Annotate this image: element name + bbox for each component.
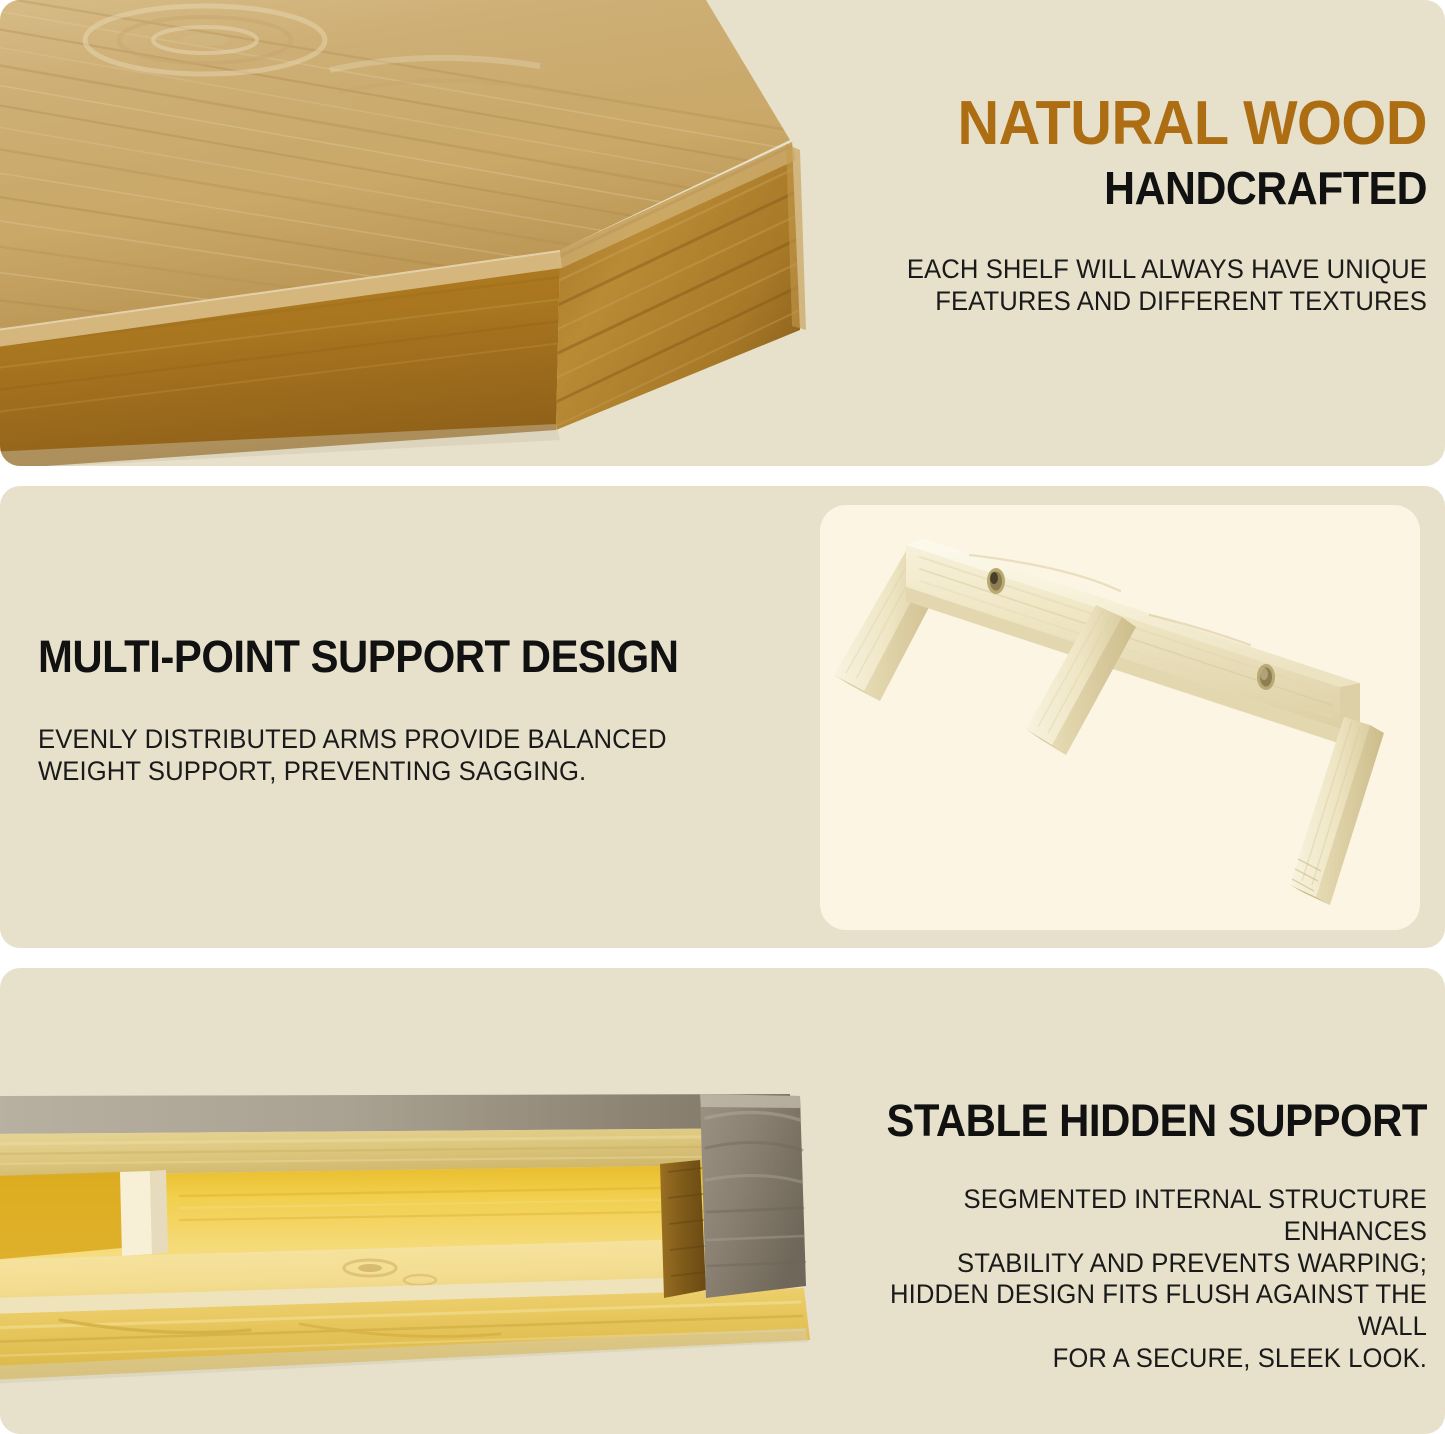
panel-natural-wood-body: EACH SHELF WILL ALWAYS HAVE UNIQUE FEATU… [848,254,1428,318]
panel-hidden-support-body: SEGMENTED INTERNAL STRUCTURE ENHANCES ST… [838,1184,1427,1375]
panel-multi-point-support: MULTI-POINT SUPPORT DESIGN EVENLY DISTRI… [0,486,1445,948]
panel-natural-wood-title-sub: HANDCRAFTED [860,165,1427,212]
panel-multi-point-text: MULTI-POINT SUPPORT DESIGN EVENLY DISTRI… [38,634,778,788]
bracket-screw-hole [1257,664,1275,690]
body-line: WEIGHT SUPPORT, PREVENTING SAGGING. [38,756,741,788]
product-infographic: NATURAL WOOD HANDCRAFTED EACH SHELF WILL… [0,0,1445,1434]
body-line: EACH SHELF WILL ALWAYS HAVE UNIQUE [848,254,1428,286]
panel-hidden-support-title: STABLE HIDDEN SUPPORT [850,1098,1427,1144]
bracket-screw-hole [987,568,1005,594]
bracket-main-rail [906,539,1360,743]
body-line: FOR A SECURE, SLEEK LOOK. [838,1343,1427,1375]
body-line: FEATURES AND DIFFERENT TEXTURES [848,286,1428,318]
panel-natural-wood-title-main: NATURAL WOOD [860,92,1427,155]
bracket-image-card [820,505,1420,930]
wooden-bracket-frame-image [820,505,1420,930]
panel-hidden-support: STABLE HIDDEN SUPPORT SEGMENTED INTERNAL… [0,968,1445,1434]
bracket-arm-right [1290,717,1384,905]
panel-multi-point-title: MULTI-POINT SUPPORT DESIGN [38,634,726,680]
body-line: SEGMENTED INTERNAL STRUCTURE ENHANCES [838,1184,1427,1248]
body-line: STABILITY AND PREVENTS WARPING; [838,1248,1427,1280]
panel-natural-wood-text: NATURAL WOOD HANDCRAFTED EACH SHELF WILL… [817,92,1427,318]
body-line: EVENLY DISTRIBUTED ARMS PROVIDE BALANCED [38,724,741,756]
body-line: HIDDEN DESIGN FITS FLUSH AGAINST THE WAL… [838,1279,1427,1343]
panel-hidden-support-text: STABLE HIDDEN SUPPORT SEGMENTED INTERNAL… [807,1098,1427,1375]
panel-multi-point-body: EVENLY DISTRIBUTED ARMS PROVIDE BALANCED… [38,724,741,788]
panel-natural-wood: NATURAL WOOD HANDCRAFTED EACH SHELF WILL… [0,0,1445,466]
